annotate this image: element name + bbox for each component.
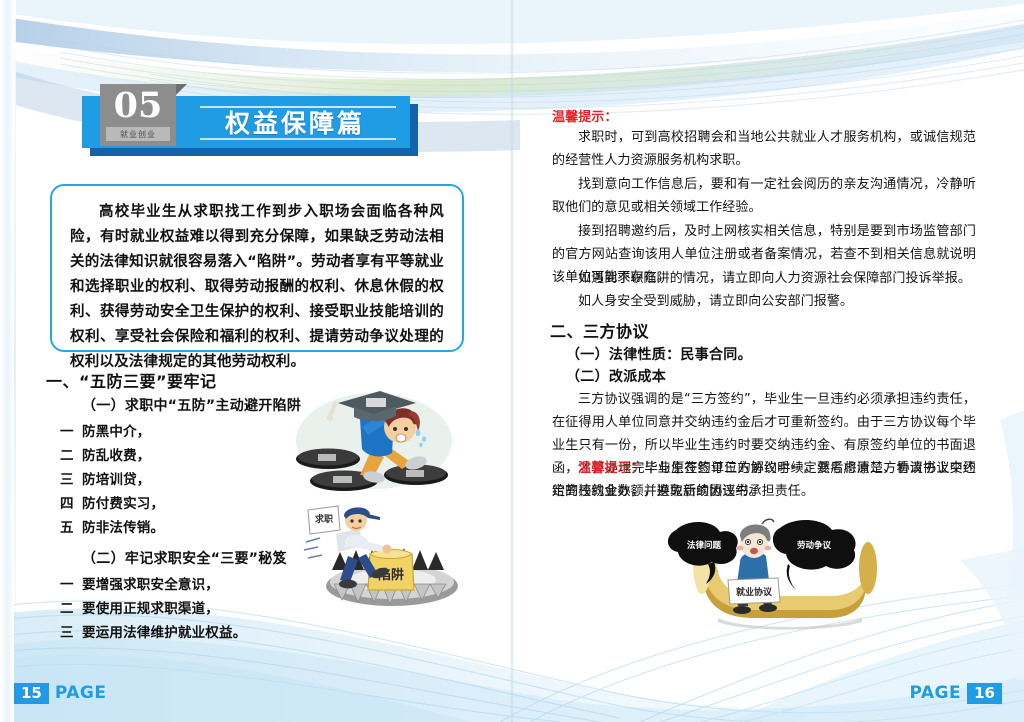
list-item: 二防乱收费， [60, 444, 151, 464]
jobseeker-running-to-bear-trap-illustration: 陷阱 求职 [300, 494, 468, 616]
list-marker: 二 [60, 597, 82, 617]
bubble-right-label: 劳动争议 [797, 540, 832, 551]
left-sub1-heading: （一）求职中“五防”主动避开陷阱 [82, 395, 301, 415]
list-marker: 三 [60, 468, 82, 488]
list-text: 要运用法律维护就业权益。 [82, 625, 246, 641]
page-spine [510, 0, 514, 722]
list-item: 五防非法传销。 [60, 516, 164, 536]
list-text: 防乱收费， [82, 448, 151, 464]
list-text: 要增强求职安全意识， [82, 577, 219, 593]
list-marker: 二 [60, 444, 82, 464]
list-item: 二要使用正规求职渠道， [60, 597, 219, 617]
list-marker: 三 [60, 621, 82, 641]
list-marker: 四 [60, 492, 82, 512]
left-section-heading: 一、“五防三要”要牢记 [46, 368, 217, 392]
thought-bubble-right: 劳动争议 [773, 520, 856, 590]
list-marker: 一 [60, 573, 82, 593]
page-word-right: PAGE [904, 683, 968, 703]
final-tip-label: 温馨提示： [578, 461, 644, 476]
right-sub2-heading: （二）改派成本 [566, 366, 666, 386]
intro-paragraph: 高校毕业生从求职找工作到步入职场会面临各种风险，有时就业权益难以得到充分保障，如… [70, 200, 444, 375]
agreement-paper-label: 就业协议 [736, 586, 773, 598]
graduate-with-employment-agreement-illustration: 法律问题 劳动争议 就业协议 [662, 518, 884, 630]
list-item: 三防培训贷， [60, 468, 151, 488]
right-tip-paragraph-2: 找到意向工作信息后，要和有一定社会阅历的亲友沟通情况，冷静听取他们的意见或相关领… [552, 173, 976, 219]
chapter-number-subtitle: 就业创业 [106, 127, 170, 141]
right-tip-paragraph-5: 如人身安全受到威胁，请立即向公安部门报警。 [552, 290, 976, 313]
right-sub1-heading: （一）法律性质：民事合同。 [566, 344, 752, 364]
left-sub2-heading: （二）牢记求职安全“三要”秘笈 [82, 548, 287, 568]
page-number-right: 16 [967, 683, 1002, 704]
corner-fold-icon [176, 84, 187, 95]
page-number-left: 15 [14, 683, 49, 704]
paper-label: 求职 [315, 513, 333, 525]
chapter-number: 05 [100, 82, 176, 128]
right-section-heading: 二、三方协议 [550, 318, 649, 342]
tip-label: 温馨提示： [552, 110, 618, 125]
page-word-left: PAGE [49, 683, 113, 703]
list-text: 防付费实习， [82, 496, 164, 512]
page-left-edge [0, 0, 14, 722]
list-item: 三要运用法律维护就业权益。 [60, 621, 246, 641]
booklet-page-spread: 权益保障篇 05 就业创业 高校毕业生从求职找工作到步入职场会面临各种风险，有时… [0, 0, 1024, 722]
list-item: 四防付费实习， [60, 492, 164, 512]
list-marker: 五 [60, 516, 82, 536]
bubble-left-label: 法律问题 [687, 540, 722, 551]
footer-right: PAGE 16 [904, 682, 1003, 704]
list-text: 防非法传销。 [82, 520, 164, 536]
list-text: 防培训贷， [82, 472, 151, 488]
list-marker: 一 [60, 420, 82, 440]
chapter-number-box: 05 就业创业 [100, 84, 176, 146]
graduate-falling-into-pitfalls-illustration [288, 383, 464, 497]
list-item: 一要增强求职安全意识， [60, 573, 219, 593]
footer-left: 15 PAGE [14, 682, 113, 704]
right-tip-paragraph-4: 如遇到求职陷阱的情况，请立即向人力资源社会保障部门投诉举报。 [552, 267, 976, 290]
list-text: 要使用正规求职渠道， [82, 601, 219, 617]
chapter-banner: 权益保障篇 05 就业创业 [82, 96, 418, 152]
list-text: 防黑中介， [82, 424, 151, 440]
right-final-tip: 温馨提示：毕业生在签订三方协议时一定要考虑清楚、看清协议中约定的违约金数额，避免… [552, 457, 976, 503]
right-tip-paragraph-1: 求职时，可到高校招聘会和当地公共就业人才服务机构，或诚信规范的经营性人力资源服务… [552, 126, 976, 172]
chapter-title: 权益保障篇 [190, 96, 400, 148]
list-item: 一防黑中介， [60, 420, 151, 440]
intro-text-box: 高校毕业生从求职找工作到步入职场会面临各种风险，有时就业权益难以得到充分保障，如… [50, 184, 464, 352]
